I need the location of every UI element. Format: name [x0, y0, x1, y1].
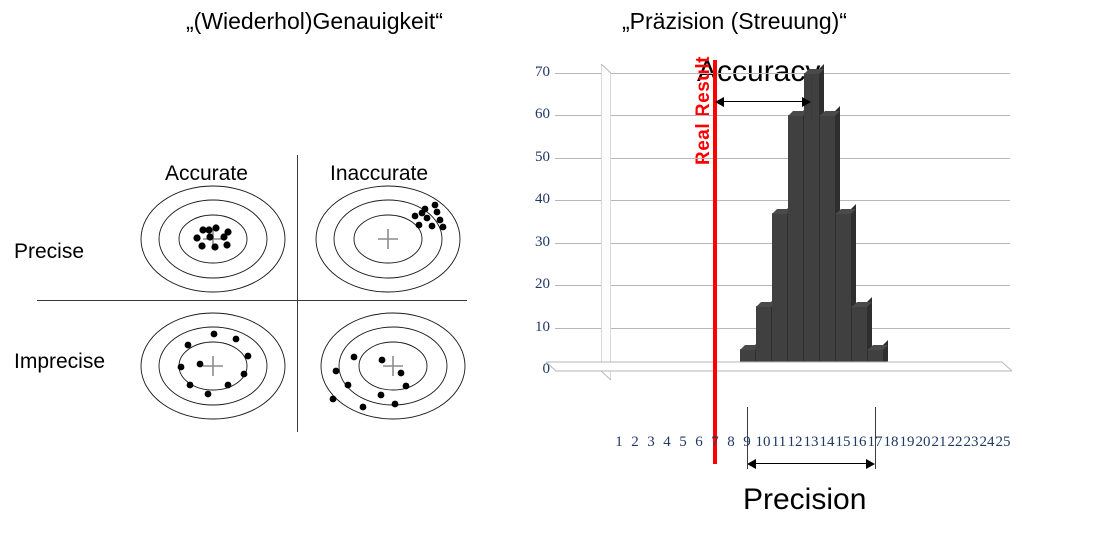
quadrant-vertical-divider [297, 155, 298, 432]
histogram-chart: Accuracy Precision Real Result 010203040… [500, 55, 1120, 533]
precision-arrow [747, 458, 875, 470]
target-inaccurate-imprecise [315, 312, 485, 442]
real-result-line [713, 60, 717, 464]
y-axis-ticks: 010203040506070 [510, 55, 550, 455]
y-tick-label: 0 [516, 361, 550, 378]
gridline [555, 200, 1010, 201]
bar [788, 115, 803, 371]
quadrant-column-label-accurate: Accurate [165, 162, 248, 186]
x-axis-ticks: 1234567891011121314151617181920212223242… [500, 434, 1120, 458]
target-accurate-imprecise [140, 312, 286, 420]
quadrant-row-label-precise: Precise [14, 240, 84, 264]
slide-canvas: „(Wiederhol)Genauigkeit“ „Präzision (Str… [0, 0, 1120, 533]
y-tick-label: 40 [516, 191, 550, 208]
y-tick-label: 60 [516, 106, 550, 123]
x-tick-label: 25 [992, 434, 1014, 451]
chart-floor [546, 361, 1012, 383]
bar [836, 213, 851, 371]
y-tick-label: 20 [516, 276, 550, 293]
gridline [555, 73, 1010, 74]
gridline [555, 158, 1010, 159]
plot-area [555, 64, 1010, 370]
y-tick-label: 50 [516, 149, 550, 166]
y-tick-label: 30 [516, 234, 550, 251]
gridline [555, 115, 1010, 116]
precision-annotation-label: Precision [743, 483, 866, 517]
bar [772, 213, 787, 371]
target-accurate-precise [140, 185, 286, 293]
target-inaccurate-precise [315, 185, 461, 293]
accuracy-arrow [715, 96, 811, 108]
quadrant-horizontal-divider [37, 300, 467, 301]
bar [820, 115, 835, 371]
accuracy-precision-quadrant: Accurate Inaccurate Precise Imprecise [0, 140, 500, 440]
heading-right: „Präzision (Streuung)“ [622, 8, 847, 35]
y-tick-label: 10 [516, 319, 550, 336]
quadrant-column-label-inaccurate: Inaccurate [330, 162, 428, 186]
quadrant-row-label-imprecise: Imprecise [14, 350, 105, 374]
heading-left: „(Wiederhol)Genauigkeit“ [186, 8, 443, 35]
chart-left-wall [601, 64, 611, 380]
y-tick-label: 70 [516, 64, 550, 81]
accuracy-peak-leader [811, 75, 812, 121]
